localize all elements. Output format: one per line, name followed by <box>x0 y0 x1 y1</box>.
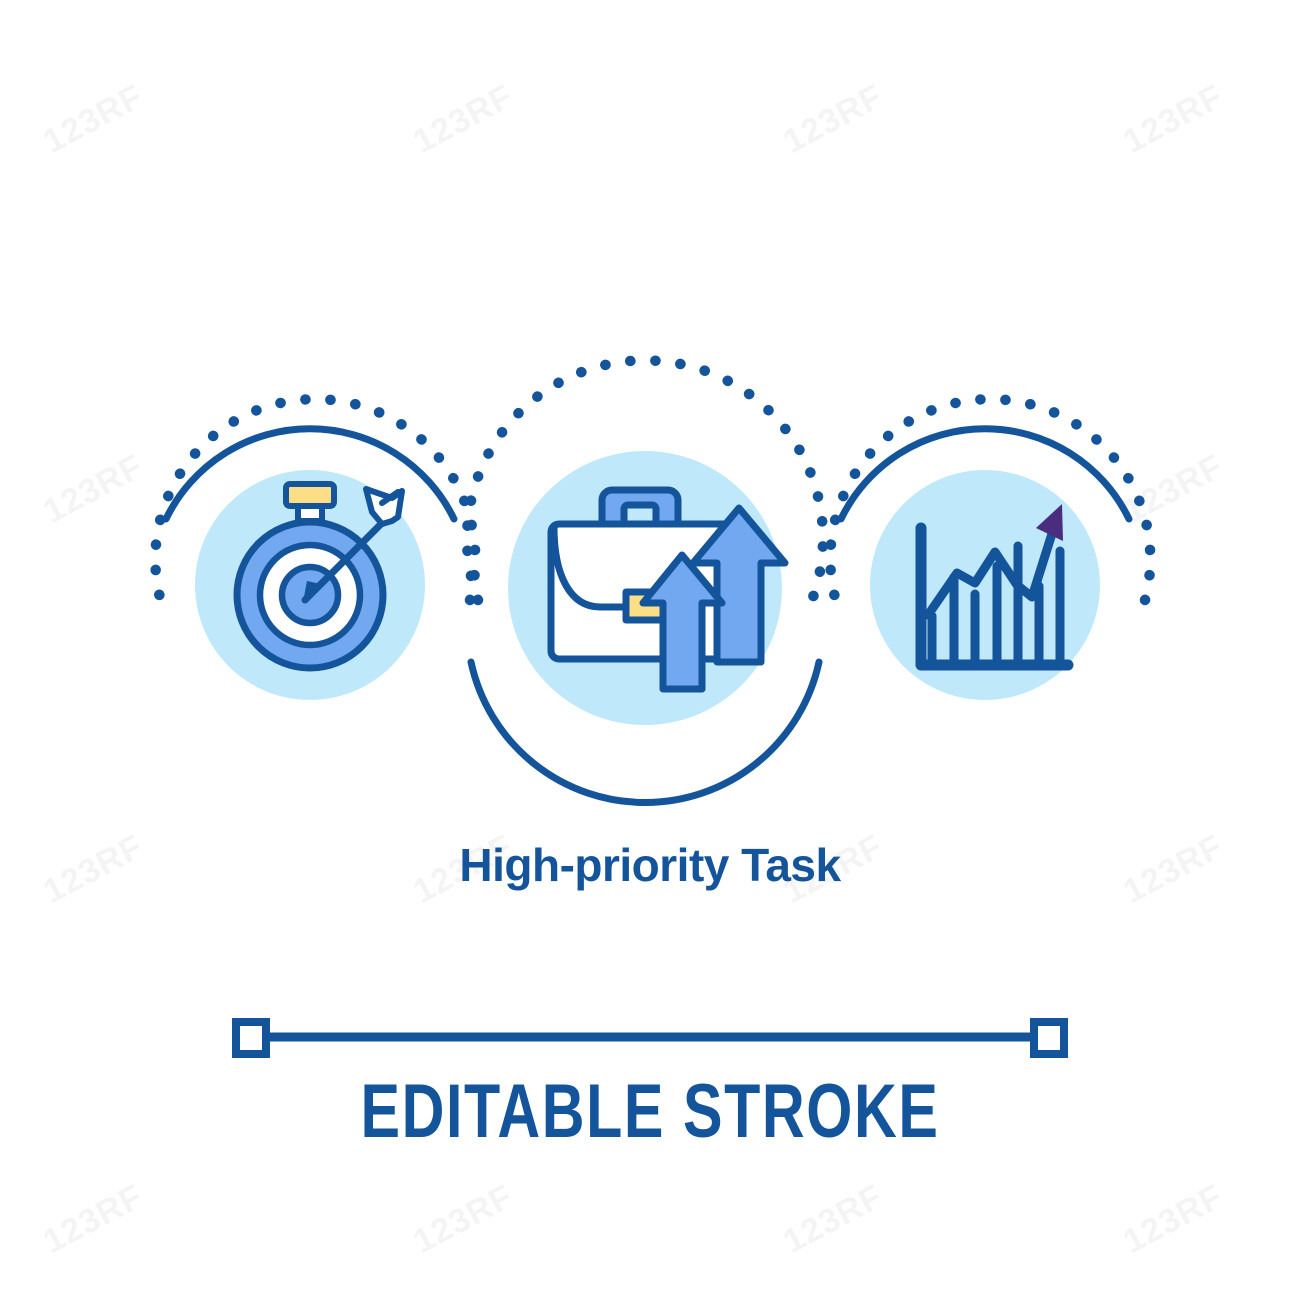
target-stopwatch-icon <box>155 399 475 700</box>
editable-stroke-rule <box>0 1005 1300 1069</box>
stroke-handle-right[interactable] <box>1034 1022 1064 1054</box>
growth-chart-icon <box>830 399 1150 700</box>
briefcase-growth-icon <box>467 360 823 802</box>
page-title: High-priority Task <box>0 838 1300 892</box>
illustration-canvas: 123RF 123RF 123RF 123RF 123RF 123RF 123R… <box>0 0 1300 1300</box>
stopwatch-crown-button <box>286 484 334 506</box>
editable-stroke-label: EDITABLE STROKE <box>143 1068 1157 1155</box>
stroke-handle-left[interactable] <box>236 1022 266 1054</box>
